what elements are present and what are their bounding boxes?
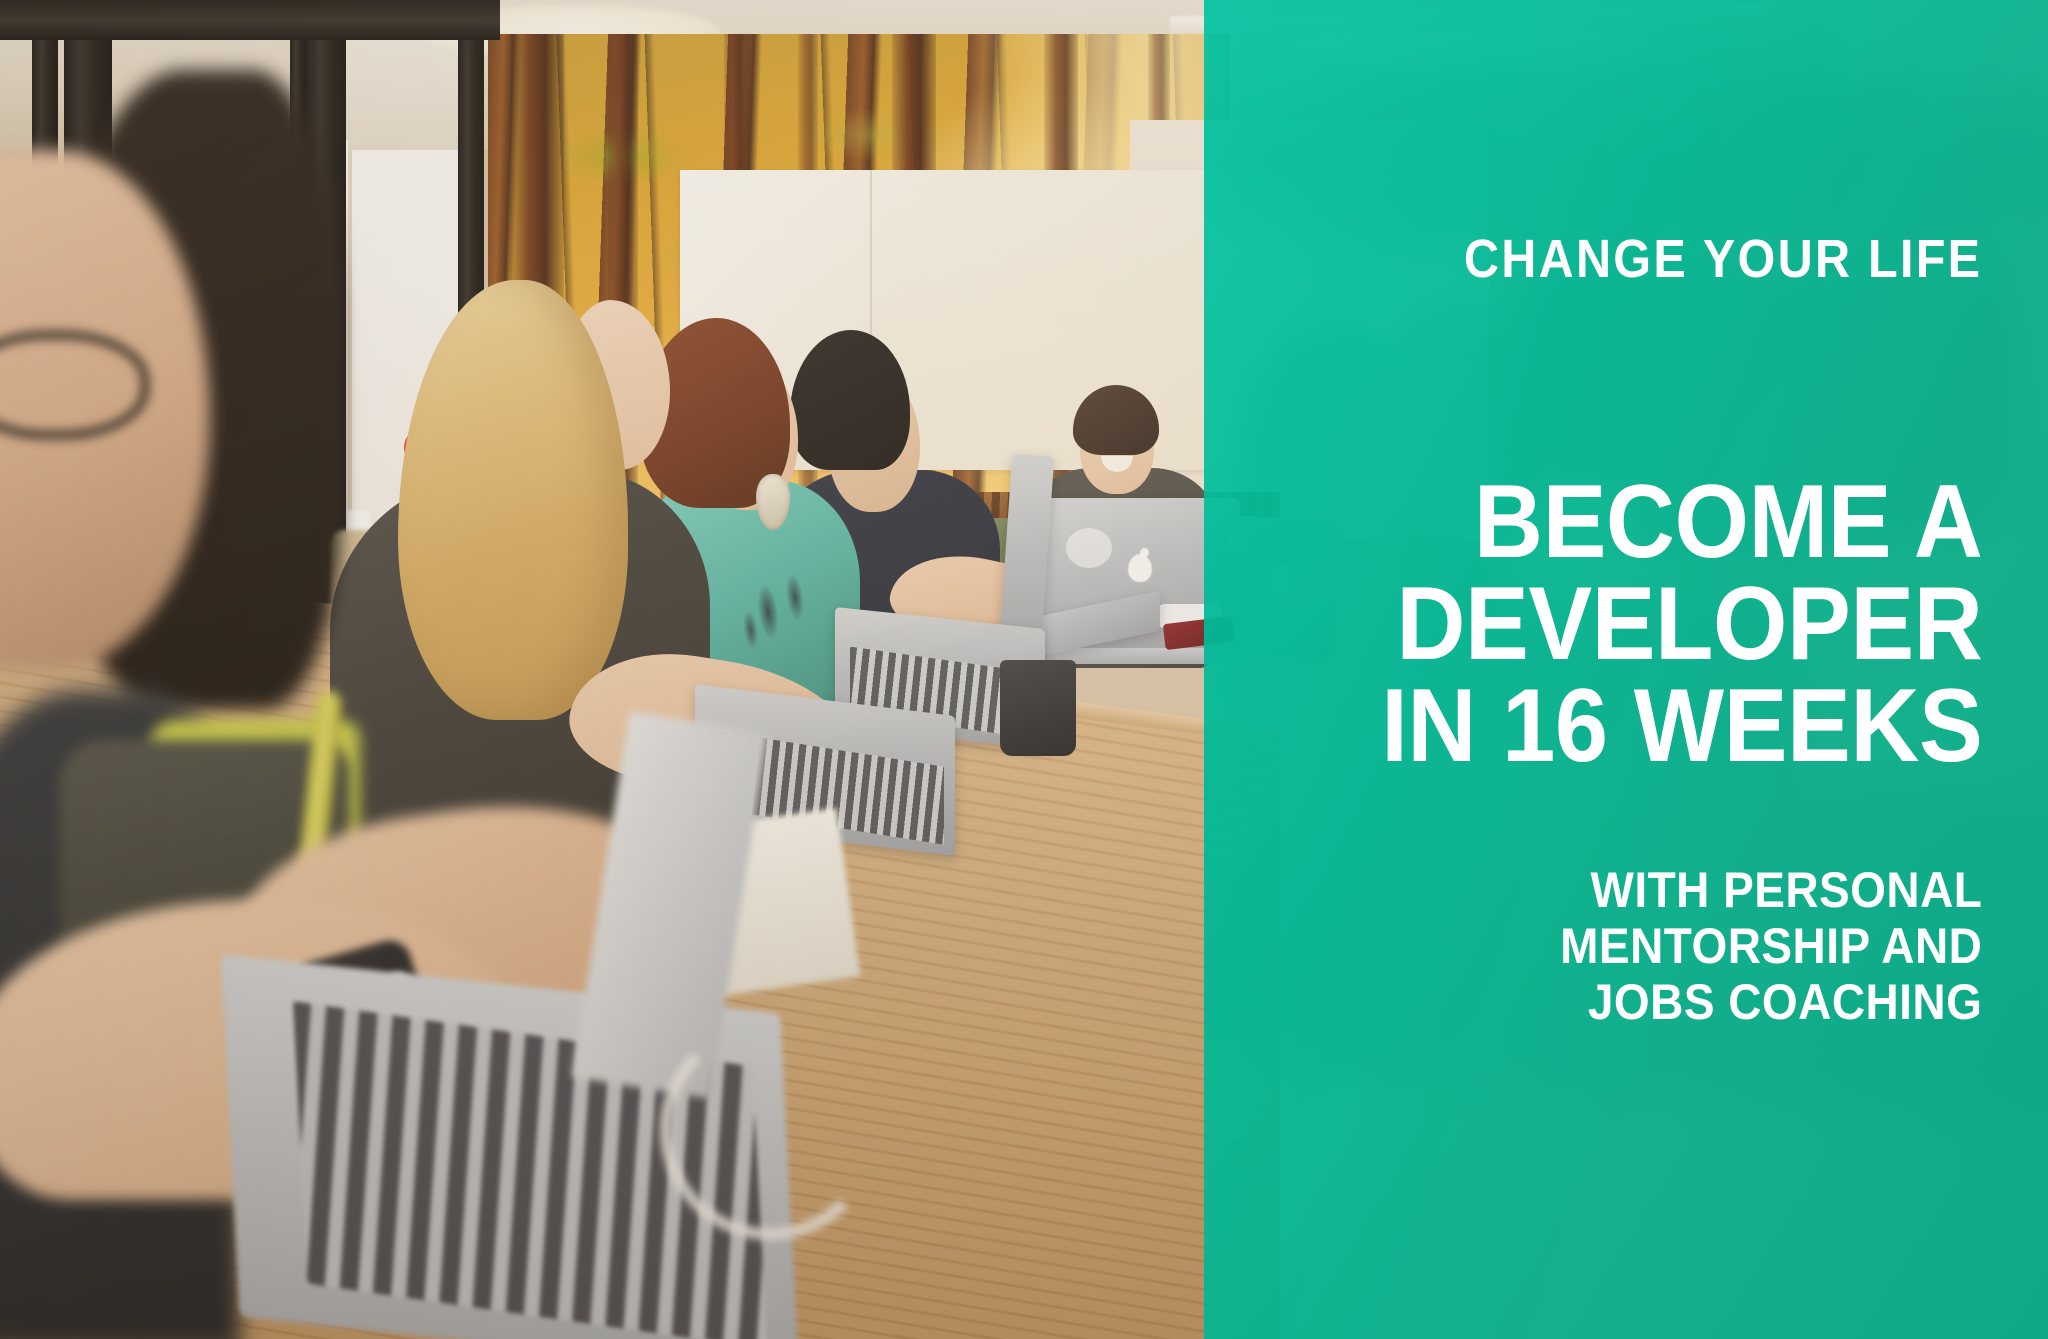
eyebrow-text: CHANGE YOUR LIFE	[1394, 232, 1982, 286]
subcopy-line-3: JOBS COACHING	[1381, 974, 1982, 1030]
subcopy-line-2: MENTORSHIP AND	[1381, 918, 1982, 974]
white-charging-cord	[660, 1020, 880, 1240]
hero-banner: CHANGE YOUR LIFE BECOME A DEVELOPER IN 1…	[0, 0, 2048, 1339]
subcopy-line-1: WITH PERSONAL	[1381, 862, 1982, 918]
headline-line-2: DEVELOPER	[1381, 574, 1982, 676]
headline-line-3: IN 16 WEEKS	[1381, 676, 1982, 778]
headline: BECOME A DEVELOPER IN 16 WEEKS	[1381, 472, 1982, 778]
headline-line-1: BECOME A	[1381, 472, 1982, 574]
subcopy: WITH PERSONAL MENTORSHIP AND JOBS COACHI…	[1381, 862, 1982, 1030]
hero-copy: CHANGE YOUR LIFE BECOME A DEVELOPER IN 1…	[1329, 232, 1982, 1030]
